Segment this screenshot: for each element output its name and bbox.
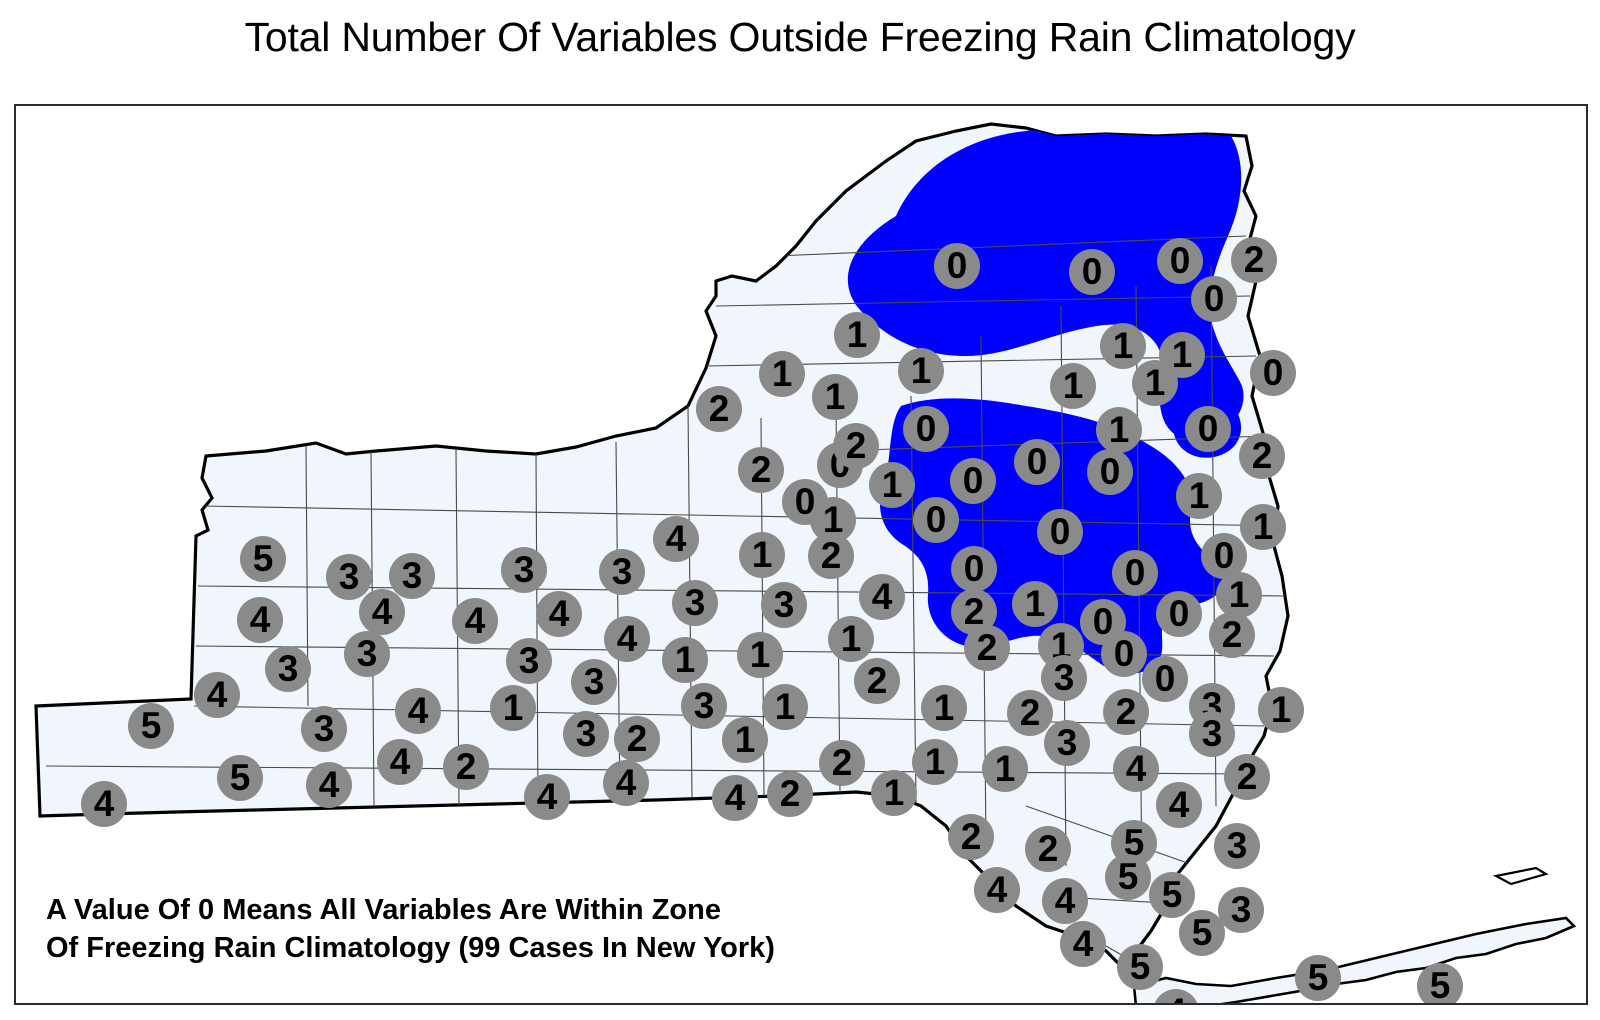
station-value-marker: 0 bbox=[1087, 449, 1133, 495]
station-value-marker: 3 bbox=[1214, 823, 1260, 869]
station-value-marker: 0 bbox=[1069, 249, 1115, 295]
station-value-marker: 2 bbox=[1209, 612, 1255, 658]
station-value-marker: 5 bbox=[1295, 955, 1341, 1001]
station-value-marker: 1 bbox=[1176, 473, 1222, 519]
station-value-marker: 2 bbox=[1007, 690, 1053, 736]
station-value-marker: 2 bbox=[808, 533, 854, 579]
station-value-marker: 3 bbox=[563, 711, 609, 757]
station-value-marker: 0 bbox=[903, 406, 949, 452]
station-value-marker: 4 bbox=[653, 516, 699, 562]
station-value-marker: 3 bbox=[1218, 887, 1264, 933]
station-value-marker: 1 bbox=[912, 739, 958, 785]
station-value-marker: 2 bbox=[696, 386, 742, 432]
station-value-marker: 1 bbox=[722, 717, 768, 763]
station-value-marker: 4 bbox=[1113, 746, 1159, 792]
station-value-marker: 2 bbox=[1103, 689, 1149, 735]
station-value-marker: 1 bbox=[921, 685, 967, 731]
station-value-marker: 5 bbox=[217, 755, 263, 801]
station-value-marker: 4 bbox=[395, 688, 441, 734]
station-value-marker: 2 bbox=[443, 744, 489, 790]
station-value-marker: 4 bbox=[603, 760, 649, 806]
station-value-marker: 2 bbox=[1224, 754, 1270, 800]
station-value-marker: 1 bbox=[828, 616, 874, 662]
station-value-marker: 2 bbox=[833, 423, 879, 469]
station-value-marker: 3 bbox=[301, 706, 347, 752]
station-value-marker: 0 bbox=[1014, 439, 1060, 485]
station-value-marker: 3 bbox=[672, 580, 718, 626]
station-value-marker: 1 bbox=[1258, 687, 1304, 733]
station-value-marker: 5 bbox=[1105, 854, 1151, 900]
station-value-marker: 4 bbox=[377, 739, 423, 785]
station-value-marker: 3 bbox=[506, 638, 552, 684]
station-value-marker: 3 bbox=[501, 547, 547, 593]
station-value-marker: 4 bbox=[452, 598, 498, 644]
station-value-marker: 3 bbox=[344, 631, 390, 677]
station-value-marker: 0 bbox=[1142, 656, 1188, 702]
station-value-marker: 1 bbox=[1240, 504, 1286, 550]
station-value-marker: 1 bbox=[1132, 360, 1178, 406]
station-value-marker: 5 bbox=[1149, 872, 1195, 918]
station-value-marker: 4 bbox=[1060, 921, 1106, 967]
station-value-marker: 1 bbox=[982, 746, 1028, 792]
station-value-marker: 0 bbox=[950, 458, 996, 504]
station-value-marker: 3 bbox=[1041, 655, 1087, 701]
station-value-marker: 3 bbox=[389, 553, 435, 599]
station-value-marker: 1 bbox=[898, 348, 944, 394]
station-value-marker: 4 bbox=[194, 672, 240, 718]
station-value-marker: 1 bbox=[662, 637, 708, 683]
station-value-marker: 4 bbox=[712, 775, 758, 821]
station-value-marker: 3 bbox=[1044, 720, 1090, 766]
station-value-marker: 2 bbox=[1239, 433, 1285, 479]
station-value-marker: 2 bbox=[767, 771, 813, 817]
station-value-marker: 2 bbox=[854, 658, 900, 704]
station-value-marker: 1 bbox=[812, 374, 858, 420]
station-value-marker: 5 bbox=[240, 536, 286, 582]
station-value-marker: 0 bbox=[1156, 591, 1202, 637]
station-value-marker: 0 bbox=[913, 497, 959, 543]
station-value-marker: 1 bbox=[759, 351, 805, 397]
station-value-marker: 2 bbox=[819, 740, 865, 786]
station-value-marker: 1 bbox=[1012, 581, 1058, 627]
station-value-marker: 4 bbox=[359, 589, 405, 635]
station-value-marker: 4 bbox=[859, 574, 905, 620]
station-value-marker: 4 bbox=[524, 774, 570, 820]
station-value-marker: 2 bbox=[1025, 826, 1071, 872]
station-value-marker: 0 bbox=[1250, 350, 1296, 396]
station-value-marker: 1 bbox=[739, 532, 785, 578]
station-value-marker: 0 bbox=[1191, 276, 1237, 322]
map-frame: 0002011111110210102021000201001141253333… bbox=[14, 104, 1588, 1005]
station-value-marker: 3 bbox=[1189, 711, 1235, 757]
station-value-marker: 0 bbox=[1037, 509, 1083, 555]
station-value-marker: 2 bbox=[614, 716, 660, 762]
station-value-marker: 4 bbox=[237, 597, 283, 643]
station-value-marker: 1 bbox=[1100, 323, 1146, 369]
station-value-marker: 5 bbox=[1117, 944, 1163, 990]
station-value-marker: 0 bbox=[951, 546, 997, 592]
station-value-marker: 1 bbox=[834, 312, 880, 358]
station-value-marker: 3 bbox=[761, 582, 807, 628]
station-value-marker: 4 bbox=[1156, 782, 1202, 828]
station-value-marker: 0 bbox=[1157, 238, 1203, 284]
station-value-marker: 0 bbox=[1101, 631, 1147, 677]
station-value-marker: 0 bbox=[1112, 550, 1158, 596]
station-value-marker: 1 bbox=[490, 685, 536, 731]
station-value-marker: 1 bbox=[871, 770, 917, 816]
station-value-marker: 5 bbox=[1179, 910, 1225, 956]
station-value-marker: 4 bbox=[81, 781, 127, 827]
station-value-marker: 0 bbox=[1185, 406, 1231, 452]
station-value-marker: 3 bbox=[265, 646, 311, 692]
station-value-marker: 1 bbox=[1216, 572, 1262, 618]
station-value-marker: 2 bbox=[738, 447, 784, 493]
station-value-marker: 2 bbox=[948, 814, 994, 860]
station-value-marker: 1 bbox=[869, 462, 915, 508]
figure-title: Total Number Of Variables Outside Freezi… bbox=[0, 14, 1600, 61]
station-value-marker: 0 bbox=[934, 243, 980, 289]
station-value-marker: 1 bbox=[1096, 407, 1142, 453]
station-value-marker: 3 bbox=[571, 659, 617, 705]
station-value-marker: 3 bbox=[599, 549, 645, 595]
station-value-marker: 1 bbox=[762, 684, 808, 730]
station-value-marker: 4 bbox=[306, 762, 352, 808]
station-value-marker: 3 bbox=[326, 554, 372, 600]
station-value-marker: 1 bbox=[737, 632, 783, 678]
figure-root: Total Number Of Variables Outside Freezi… bbox=[0, 0, 1600, 1020]
station-value-marker: 2 bbox=[964, 625, 1010, 671]
station-value-marker: 4 bbox=[1042, 878, 1088, 924]
station-value-marker: 5 bbox=[1417, 963, 1463, 1005]
station-value-marker: 4 bbox=[604, 616, 650, 662]
station-value-marker: 2 bbox=[1231, 237, 1277, 283]
legend-note: A Value Of 0 Means All Variables Are Wit… bbox=[46, 892, 1026, 967]
station-value-marker: 4 bbox=[536, 591, 582, 637]
station-value-marker: 1 bbox=[1050, 363, 1096, 409]
station-value-marker: 5 bbox=[128, 703, 174, 749]
station-value-marker: 3 bbox=[681, 683, 727, 729]
